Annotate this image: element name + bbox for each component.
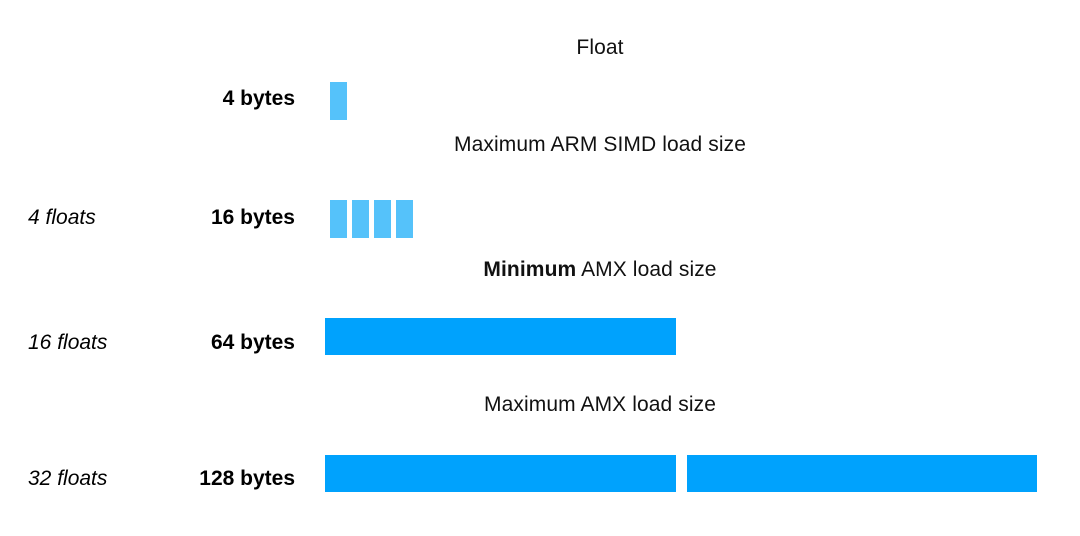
- bar-segment-simd-3: [374, 200, 391, 238]
- bytes-label-64-bytes: 64 bytes: [110, 331, 295, 355]
- bytes-label-128-bytes: 128 bytes: [110, 467, 295, 491]
- bar-segment-float-1: [330, 82, 347, 120]
- caption-arm-simd: Maximum ARM SIMD load size: [400, 133, 800, 157]
- bar-segment-amx-max-1: [325, 455, 676, 492]
- caption-amx-min: Minimum AMX load size: [420, 258, 780, 282]
- caption-amx-max: Maximum AMX load size: [435, 393, 765, 417]
- diagram-canvas: Float 4 bytes Maximum ARM SIMD load size…: [0, 0, 1080, 536]
- caption-amx-min-bold: Minimum: [483, 258, 576, 281]
- bar-segment-simd-1: [330, 200, 347, 238]
- bytes-label-4-bytes: 4 bytes: [110, 87, 295, 111]
- caption-float: Float: [480, 36, 720, 60]
- bar-segment-amx-max-2: [687, 455, 1037, 492]
- caption-amx-min-rest: AMX load size: [581, 258, 717, 281]
- bytes-label-16-bytes: 16 bytes: [110, 206, 295, 230]
- bar-segment-simd-4: [396, 200, 413, 238]
- bar-segment-simd-2: [352, 200, 369, 238]
- bar-segment-amx-min-1: [325, 318, 676, 355]
